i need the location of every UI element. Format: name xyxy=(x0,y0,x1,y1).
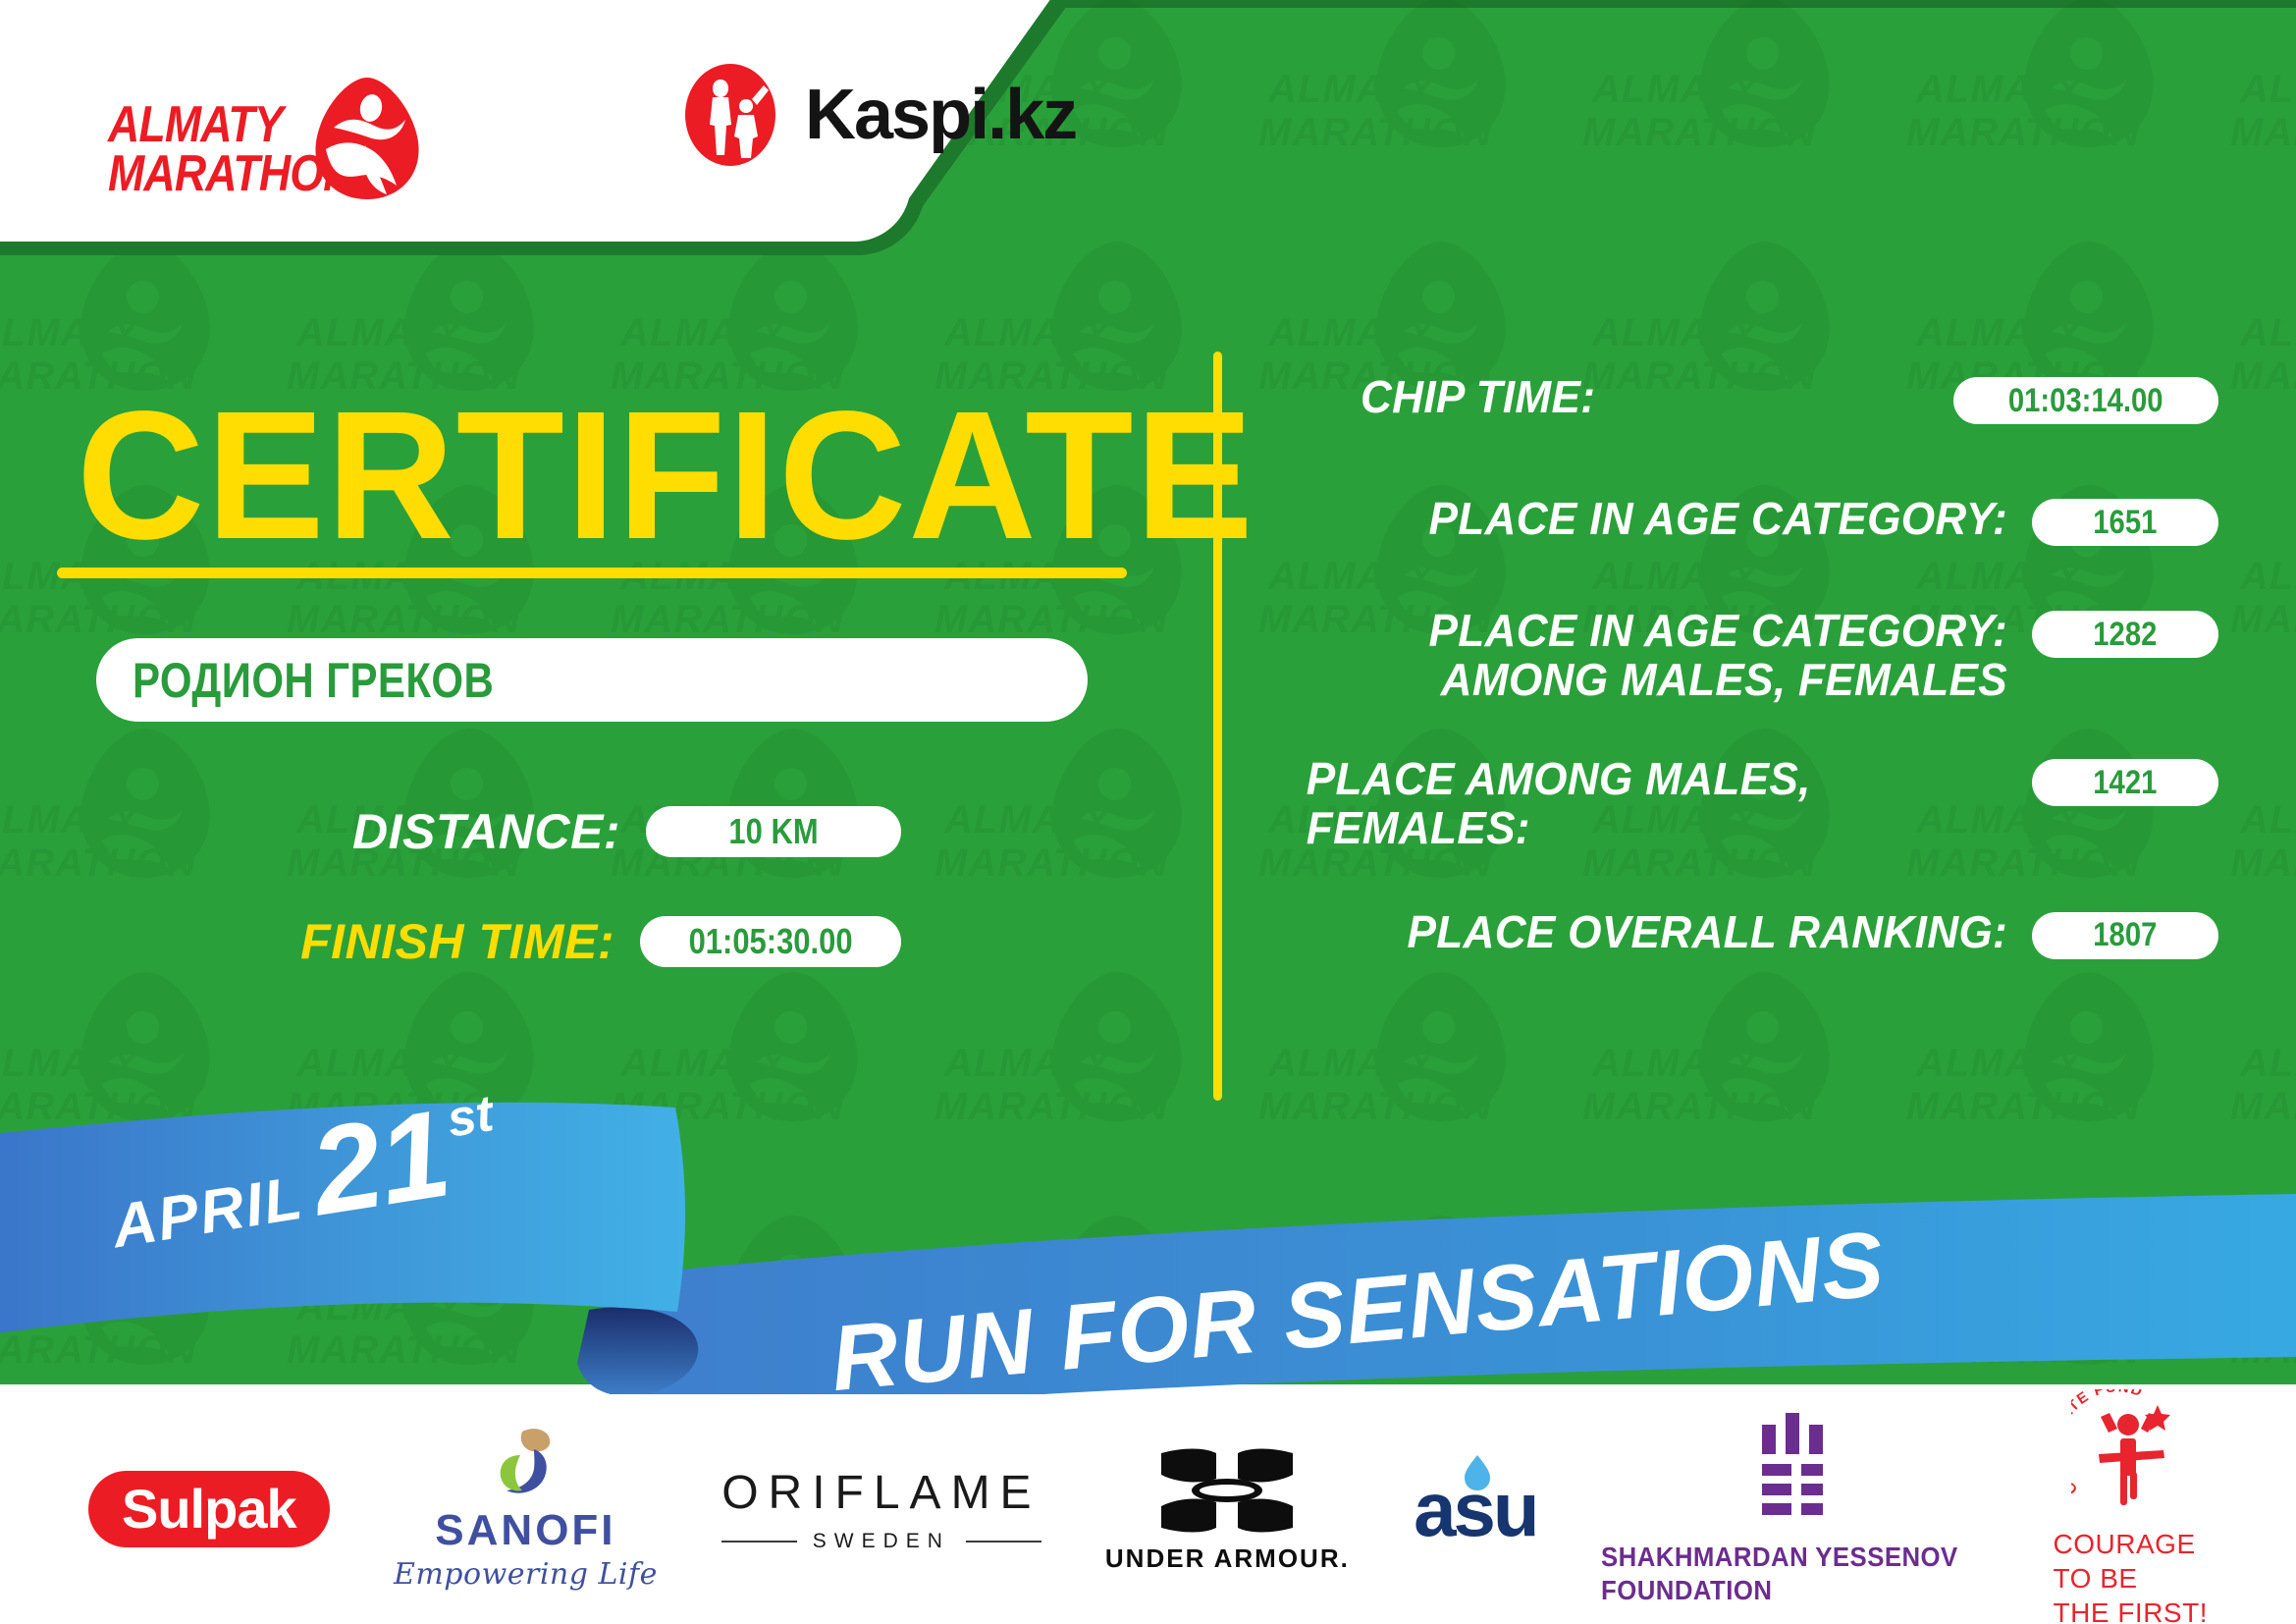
place-overall-label: PLACE OVERALL RANKING: xyxy=(1307,908,2032,957)
place-age-category-gender-value: 1282 xyxy=(2093,616,2157,654)
sponsor-asu: asu xyxy=(1414,1471,1536,1547)
place-overall-value-pill: 1807 xyxy=(2032,912,2218,959)
sponsor-bar: Sulpak SANOFI Empowering Life ORIFLAME S… xyxy=(0,1394,2296,1624)
place-age-category-gender-value-pill: 1282 xyxy=(2032,611,2218,658)
place-age-category-value: 1651 xyxy=(2093,504,2157,542)
oriflame-wordmark: ORIFLAME xyxy=(721,1466,1041,1520)
place-age-category-gender-label: PLACE IN AGE CATEGORY: AMONG MALES, FEMA… xyxy=(1307,607,2032,704)
sponsor-oriflame: ORIFLAME SWEDEN xyxy=(721,1466,1041,1553)
distance-value-pill: 10 KM xyxy=(646,806,901,857)
place-overall-value: 1807 xyxy=(2093,916,2157,954)
under-armour-wordmark: UNDER ARMOUR. xyxy=(1105,1543,1350,1574)
page-title: CERTIFICATE xyxy=(77,385,1255,568)
stat-row-place-among-gender: PLACE AMONG MALES, FEMALES: 1421 xyxy=(1276,755,2218,852)
distance-label: DISTANCE: xyxy=(352,804,620,859)
sanofi-tagline: Empowering Life xyxy=(394,1557,658,1592)
chip-time-label: CHIP TIME: xyxy=(1304,373,1953,422)
stat-row-place-overall: PLACE OVERALL RANKING: 1807 xyxy=(1276,908,2218,969)
almaty-marathon-runner-drop-icon xyxy=(304,75,430,202)
sponsor-sanofi: SANOFI Empowering Life xyxy=(394,1428,658,1592)
kaspi-wordmark: Kaspi.kz xyxy=(805,75,1076,155)
kaspi-logo: Kaspi.kz xyxy=(677,61,1076,169)
sponsor-under-armour: UNDER ARMOUR. xyxy=(1105,1445,1350,1574)
finish-time-value: 01:05:30.00 xyxy=(689,921,853,962)
stat-row-place-age-category: PLACE IN AGE CATEGORY: 1651 xyxy=(1276,495,2218,556)
oriflame-sub-label: SWEDEN xyxy=(813,1530,950,1553)
under-armour-icon xyxy=(1153,1445,1301,1536)
courage-wordmark: COURAGE TO BE THE FIRST! xyxy=(2054,1527,2208,1624)
yessenov-bars-icon xyxy=(1758,1411,1833,1519)
place-among-gender-value-pill: 1421 xyxy=(2032,759,2218,806)
column-divider xyxy=(1213,352,1222,1101)
sanofi-bird-icon xyxy=(483,1428,567,1500)
stat-row-chip-time: CHIP TIME: 01:03:14.00 xyxy=(1276,373,2218,434)
title-underline-rule xyxy=(57,568,1127,578)
chip-time-value: 01:03:14.00 xyxy=(2008,382,2163,420)
participant-name: РОДИОН ГРЕКОВ xyxy=(96,652,494,709)
place-among-gender-value: 1421 xyxy=(2093,764,2157,802)
finish-time-row: FINISH TIME: 01:05:30.00 xyxy=(267,913,901,970)
oriflame-rule-left xyxy=(721,1541,797,1543)
finish-time-value-pill: 01:05:30.00 xyxy=(640,916,901,967)
almaty-marathon-logo: ALMATY MARATHON xyxy=(108,51,432,179)
chip-time-value-pill: 01:03:14.00 xyxy=(1953,377,2218,424)
asu-droplet-icon xyxy=(1461,1453,1494,1492)
sanofi-wordmark: SANOFI xyxy=(435,1506,615,1555)
yessenov-wordmark: SHAKHMARDAN YESSENOV FOUNDATION xyxy=(1601,1541,1958,1607)
kaspi-two-figures-icon xyxy=(677,62,783,168)
distance-value: 10 KM xyxy=(728,811,818,852)
results-stats-list: CHIP TIME: 01:03:14.00 PLACE IN AGE CATE… xyxy=(1276,373,2218,1014)
place-age-category-label: PLACE IN AGE CATEGORY: xyxy=(1307,495,2032,544)
sponsor-yessenov-foundation: SHAKHMARDAN YESSENOV FOUNDATION xyxy=(1601,1411,1989,1607)
oriflame-rule-right xyxy=(966,1541,1041,1543)
place-age-category-value-pill: 1651 xyxy=(2032,499,2218,546)
event-day: 21 xyxy=(305,1104,454,1222)
sulpak-logo: Sulpak xyxy=(88,1471,330,1548)
finish-time-label: FINISH TIME: xyxy=(300,914,614,969)
event-day-ordinal: st xyxy=(443,1084,497,1149)
participant-name-field: РОДИОН ГРЕКОВ xyxy=(96,638,1088,722)
courage-runner-icon: CORPORATE FUND xyxy=(2071,1389,2189,1513)
stat-row-place-age-category-gender: PLACE IN AGE CATEGORY: AMONG MALES, FEMA… xyxy=(1276,607,2218,704)
place-among-gender-label: PLACE AMONG MALES, FEMALES: xyxy=(1307,755,2032,852)
sponsor-courage-fund: CORPORATE FUND COURAGE TO BE THE FIRST! xyxy=(2054,1389,2208,1624)
distance-row: DISTANCE: 10 KM xyxy=(273,803,901,860)
certificate-page: ALMATY MARATHON ALMATY MARATHON xyxy=(0,0,2296,1624)
sponsor-sulpak: Sulpak xyxy=(88,1471,330,1548)
